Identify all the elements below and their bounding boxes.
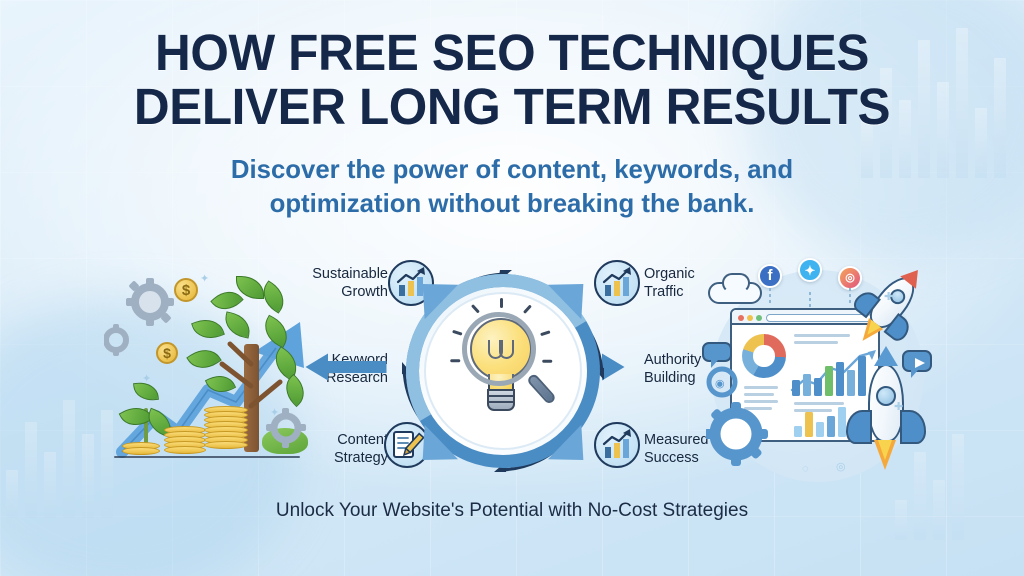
rocket-nose (874, 346, 898, 366)
label-line: Growth (278, 284, 388, 302)
infographic-canvas: HOW FREE SEO TECHNIQUES DELIVER LONG TER… (0, 0, 1024, 576)
arrow-left-icon (292, 352, 400, 382)
right-illustration-art: f ✦ ◎ (706, 256, 934, 492)
bulb-base (487, 389, 515, 411)
bulb-ray (450, 360, 460, 363)
analytics-dashboard-rockets-illustration: f ✦ ◎ (706, 256, 934, 492)
sparkle-icon: ◎ (836, 462, 846, 473)
benefit-label-sustainable-growth: Sustainable Growth (278, 266, 388, 301)
subtitle-line-1: Discover the power of content, keywords,… (5, 153, 1019, 187)
header: HOW FREE SEO TECHNIQUES DELIVER LONG TER… (0, 26, 1024, 221)
rocket-fin-left (846, 410, 872, 444)
bulb-ray (542, 360, 552, 363)
bulb-ray (540, 330, 550, 335)
sparkle-icon: ✦ (200, 274, 209, 285)
svg-text:◉: ◉ (715, 378, 725, 390)
sparkle-icon: ✚ (884, 292, 893, 303)
label-line: Sustainable (278, 266, 388, 284)
sparkle-icon: ✦ (142, 374, 151, 385)
footer: Unlock Your Website's Potential with No-… (0, 500, 1024, 522)
rocket-fin-right (900, 410, 926, 444)
rocket-flame-inner (878, 440, 892, 460)
title-line-2: DELIVER LONG TERM RESULTS (15, 80, 1008, 134)
illustration-row: $ $ (0, 256, 1024, 492)
label-line: Content (278, 432, 388, 450)
bulb-ray (452, 330, 462, 335)
page-subtitle: Discover the power of content, keywords,… (5, 153, 1019, 221)
benefit-label-content-strategy: Content Strategy (278, 432, 388, 467)
subtitle-line-2: optimization without breaking the bank. (5, 187, 1019, 221)
ground-line (114, 456, 300, 458)
bulb-ray (500, 298, 503, 308)
sparkle-icon: ◌ (802, 464, 809, 475)
footer-text: Unlock Your Website's Potential with No-… (0, 500, 1024, 522)
rocket-icon (842, 356, 928, 484)
label-line: Strategy (278, 450, 388, 468)
magnifier-lens (462, 312, 536, 386)
lightbulb-magnifier-icon (454, 312, 552, 430)
circular-arrows-ring (388, 256, 618, 486)
seo-cycle-diagram: Sustainable Growth Keyword Research Cont… (292, 256, 732, 492)
sparkle-icon: ✦ (270, 408, 279, 419)
rocket-window (876, 386, 896, 406)
sparkle-icon: ✚ (894, 402, 903, 413)
page-title: HOW FREE SEO TECHNIQUES DELIVER LONG TER… (15, 26, 1008, 134)
title-line-1: HOW FREE SEO TECHNIQUES (15, 26, 1008, 80)
